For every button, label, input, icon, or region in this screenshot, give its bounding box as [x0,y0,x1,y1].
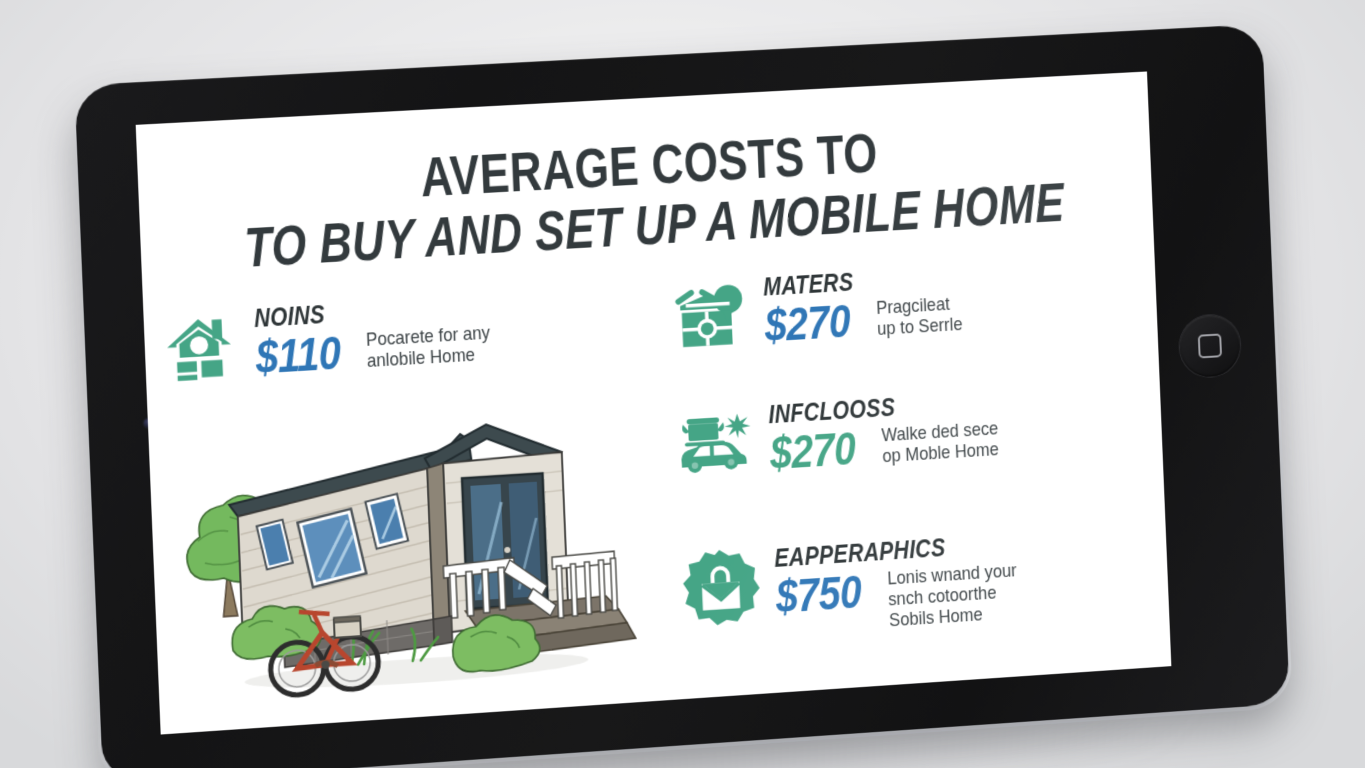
stat-text-noins: NOINS $110 Pocarete for any anlobile Hom… [254,283,637,381]
car-with-luggage-icon [674,402,755,485]
stat-price: $750 [775,568,862,619]
house-icon [158,306,241,390]
stat-desc-line: op Moble Home [882,440,999,468]
tablet-device: AVERAGE COSTS TO TO BUY AND SET UP A MOB… [74,24,1289,768]
right-column: MATERS $270 Pragcileat up to Serrle [669,251,1171,699]
stat-desc-line: up to Serrle [876,315,962,341]
stat-price: $110 [255,329,342,380]
stat-description: Pocarete for any anlobile Home [366,321,492,373]
stat-price: $270 [764,298,851,349]
badge-envelope-icon [680,546,761,629]
stat-price: $270 [769,425,856,476]
mobile-home-illustration [162,393,660,726]
stat-item-infclooss[interactable]: INFCLOOSS $270 Walke ded sece op Moble H… [674,378,1162,485]
left-column: NOINS $110 Pocarete for any anlobile Hom… [158,279,681,733]
stat-description: Pragcileat up to Serrle [875,291,962,340]
stat-text-infclooss: INFCLOOSS $270 Walke ded sece op Moble H… [768,378,1163,477]
stat-item-maters[interactable]: MATERS $270 Pragcileat up to Serrle [669,251,1157,357]
screenshot-scene: AVERAGE COSTS TO TO BUY AND SET UP A MOB… [0,0,1365,768]
stat-text-maters: MATERS $270 Pragcileat up to Serrle [763,251,1158,348]
stat-item-noins[interactable]: NOINS $110 Pocarete for any anlobile Hom… [158,283,637,389]
tablet-screen[interactable]: AVERAGE COSTS TO TO BUY AND SET UP A MOB… [136,71,1172,734]
stat-description: Walke ded sece op Moble Home [881,416,999,468]
stat-text-eapperaphics: EAPPERAPHICS $750 Lonis wnand your snch … [774,520,1169,639]
stat-item-eapperaphics[interactable]: EAPPERAPHICS $750 Lonis wnand your snch … [680,520,1169,646]
crate-balloon-icon [669,275,750,357]
infographic-slide: AVERAGE COSTS TO TO BUY AND SET UP A MOB… [136,71,1172,734]
stat-description: Lonis wnand your snch cotoorthe Sobils H… [887,558,1019,632]
content-area: NOINS $110 Pocarete for any anlobile Hom… [143,251,1171,734]
home-button-rounded-square-icon [1198,333,1222,358]
stat-desc-line: anlobile Home [367,345,492,373]
